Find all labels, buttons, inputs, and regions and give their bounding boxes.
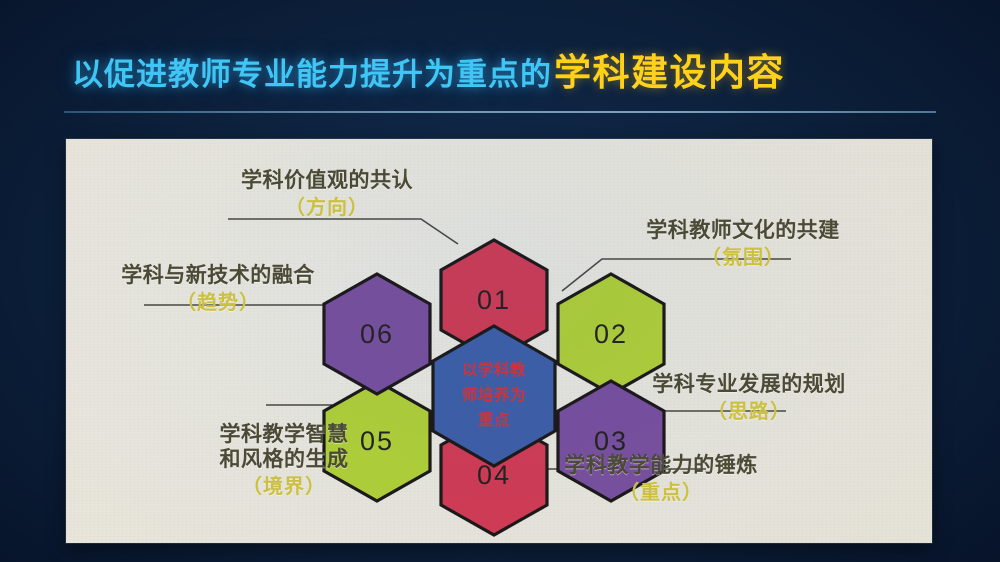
- label-03-main: 学科专业发展的规划: [624, 373, 874, 398]
- center-line-2: 师培养为: [462, 385, 526, 404]
- label-05: 学科教学智慧 和风格的生成 （境界）: [184, 423, 384, 499]
- center-line-1: 以学科教: [462, 360, 526, 379]
- page-title: 以促进教师专业能力提升为重点的 学科建设内容: [72, 42, 952, 98]
- diagram-photo-panel: 01 02 03 04 05: [66, 139, 932, 543]
- label-01-sub: （方向）: [212, 197, 442, 221]
- hex-03-number: 03: [594, 426, 628, 456]
- label-04: 学科教学能力的锤炼 （重点）: [536, 454, 786, 505]
- hex-01-number: 01: [477, 285, 511, 315]
- label-05-sub: （境界）: [184, 476, 384, 500]
- title-divider: [64, 111, 936, 113]
- label-03: 学科专业发展的规划 （思路）: [624, 373, 874, 424]
- label-02-main: 学科教师文化的共建: [618, 219, 868, 244]
- label-04-sub: （重点）: [536, 482, 786, 506]
- page-title-main: 以促进教师专业能力提升为重点的: [72, 49, 552, 94]
- label-06-main: 学科与新技术的融合: [108, 264, 328, 289]
- label-01: 学科价值观的共认 （方向）: [212, 169, 442, 220]
- label-04-main: 学科教学能力的锤炼: [536, 454, 786, 479]
- label-01-main: 学科价值观的共认: [212, 169, 442, 194]
- connector-01: [228, 219, 458, 244]
- label-02: 学科教师文化的共建 （氛围）: [618, 219, 868, 270]
- label-05-main-line2: 和风格的生成: [184, 448, 384, 473]
- slide-canvas: 以促进教师专业能力提升为重点的 学科建设内容: [0, 0, 1000, 562]
- hex-02-number: 02: [594, 319, 628, 349]
- center-line-3: 重点: [478, 410, 510, 429]
- label-06: 学科与新技术的融合 （趋势）: [108, 264, 328, 315]
- label-05-main-line1: 学科教学智慧: [184, 423, 384, 448]
- label-02-sub: （氛围）: [618, 247, 868, 271]
- hex-06[interactable]: 06: [324, 274, 430, 394]
- page-title-accent: 学科建设内容: [554, 42, 785, 96]
- label-03-sub: （思路）: [624, 401, 874, 425]
- label-06-sub: （趋势）: [108, 292, 328, 316]
- hex-06-number: 06: [360, 319, 394, 349]
